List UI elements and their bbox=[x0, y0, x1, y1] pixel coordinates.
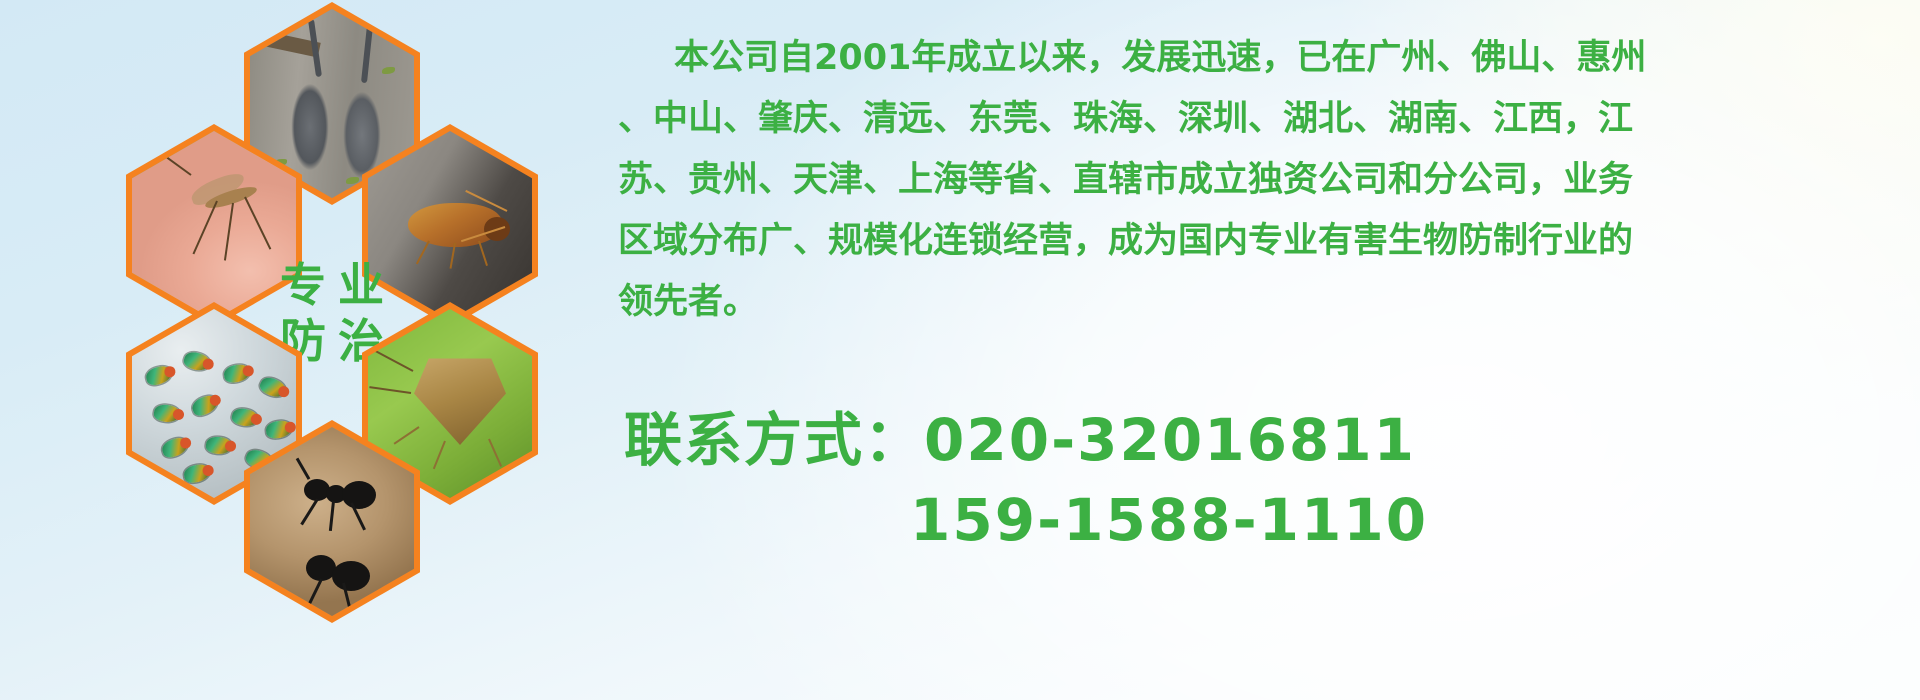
ant-leg bbox=[329, 501, 335, 531]
pest-control-banner: 专业 防治 bbox=[0, 0, 1920, 700]
fly bbox=[265, 420, 293, 440]
company-description: 本公司自2001年成立以来，发展迅速，已在广州、佛山、惠州 、中山、肇庆、清远、… bbox=[618, 28, 1888, 333]
copy-line-3: 苏、贵州、天津、上海等省、直辖市成立独资公司和分公司，业务 bbox=[618, 150, 1888, 211]
stinkbug-antenna bbox=[375, 350, 413, 371]
mosquito-leg bbox=[224, 203, 234, 261]
stinkbug-leg bbox=[488, 439, 502, 467]
fly bbox=[205, 435, 233, 455]
cockroach-leg bbox=[416, 241, 430, 265]
fly bbox=[183, 463, 212, 484]
ant-leg bbox=[300, 498, 318, 525]
mosquito-leg bbox=[192, 201, 217, 255]
stinkbug-shield bbox=[414, 353, 506, 445]
copy-line-5: 领先者。 bbox=[618, 272, 1888, 333]
stinkbug-antenna bbox=[369, 386, 411, 394]
ant-photo-art bbox=[250, 427, 414, 616]
copy-line-1: 本公司自2001年成立以来，发展迅速，已在广州、佛山、惠州 bbox=[618, 28, 1888, 89]
mosquito-leg bbox=[244, 197, 271, 250]
fly bbox=[153, 403, 182, 424]
mosquito-antenna bbox=[158, 151, 192, 176]
ant-leg bbox=[307, 578, 322, 606]
fly bbox=[230, 406, 259, 429]
rat-tail-right bbox=[361, 25, 373, 83]
contact-block: 联系方式：020-32016811 159-1588-1110 bbox=[624, 400, 1428, 560]
fly bbox=[190, 393, 220, 419]
hex-photo-ant-image bbox=[250, 427, 414, 616]
leaf-debris bbox=[382, 67, 395, 74]
fly bbox=[160, 435, 190, 459]
hexagon-photo-cluster: 专业 防治 bbox=[92, 0, 592, 576]
stinkbug-leg bbox=[433, 441, 446, 470]
leaf-debris bbox=[346, 177, 359, 184]
copy-line-2: 、中山、肇庆、清远、东莞、珠海、深圳、湖北、湖南、江西，江 bbox=[618, 89, 1888, 150]
contact-secondary-phone[interactable]: 159-1588-1110 bbox=[624, 480, 1428, 560]
stinkbug-leg bbox=[394, 426, 420, 444]
cockroach-leg bbox=[478, 241, 488, 266]
fly bbox=[182, 349, 212, 373]
fly bbox=[144, 364, 173, 387]
ant-antenna bbox=[296, 458, 310, 480]
contact-primary-phone[interactable]: 联系方式：020-32016811 bbox=[624, 400, 1428, 480]
ant-abdomen bbox=[342, 481, 376, 509]
fly bbox=[258, 374, 289, 401]
fly bbox=[223, 363, 251, 383]
slogan-line-1: 专业 bbox=[268, 261, 396, 311]
ant-second-abdomen bbox=[332, 561, 370, 591]
copy-line-4: 区域分布广、规模化连锁经营，成为国内专业有害生物防制行业的 bbox=[618, 211, 1888, 272]
